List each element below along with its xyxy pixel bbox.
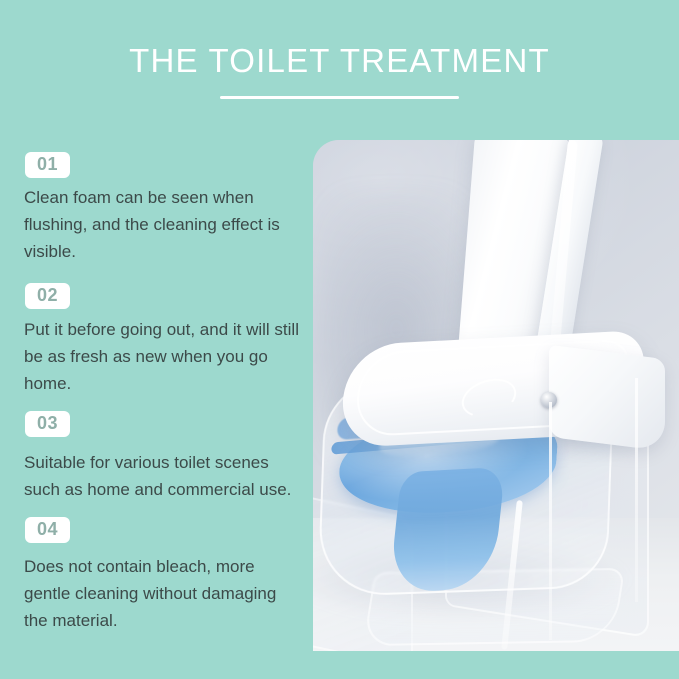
feature-description: Suitable for various toilet scenes such … bbox=[24, 449, 299, 503]
feature-number-badge: 02 bbox=[25, 283, 70, 309]
page-title: THE TOILET TREATMENT bbox=[0, 42, 679, 80]
feature-item-03: 03 Suitable for various toilet scenes su… bbox=[0, 411, 310, 503]
feature-description: Does not contain bleach, more gentle cle… bbox=[24, 553, 299, 634]
toilet-seat-right-housing bbox=[549, 345, 665, 451]
feature-description: Put it before going out, and it will sti… bbox=[24, 316, 299, 397]
feature-item-02: 02 Put it before going out, and it will … bbox=[0, 283, 310, 397]
feature-list: 01 Clean foam can be seen when flushing,… bbox=[0, 152, 310, 634]
glass-edge-right bbox=[635, 378, 638, 602]
feature-number-badge: 03 bbox=[25, 411, 70, 437]
title-divider bbox=[220, 96, 459, 99]
feature-item-01: 01 Clean foam can be seen when flushing,… bbox=[0, 152, 310, 265]
page-header: THE TOILET TREATMENT bbox=[0, 0, 679, 140]
feature-description: Clean foam can be seen when flushing, an… bbox=[24, 184, 299, 265]
product-feature-page: THE TOILET TREATMENT 01 Clean f bbox=[0, 0, 679, 679]
feature-number-badge: 01 bbox=[25, 152, 70, 178]
feature-number-badge: 04 bbox=[25, 517, 70, 543]
product-photo bbox=[313, 140, 679, 651]
feature-item-04: 04 Does not contain bleach, more gentle … bbox=[0, 517, 310, 634]
glass-edge-front bbox=[549, 402, 552, 640]
